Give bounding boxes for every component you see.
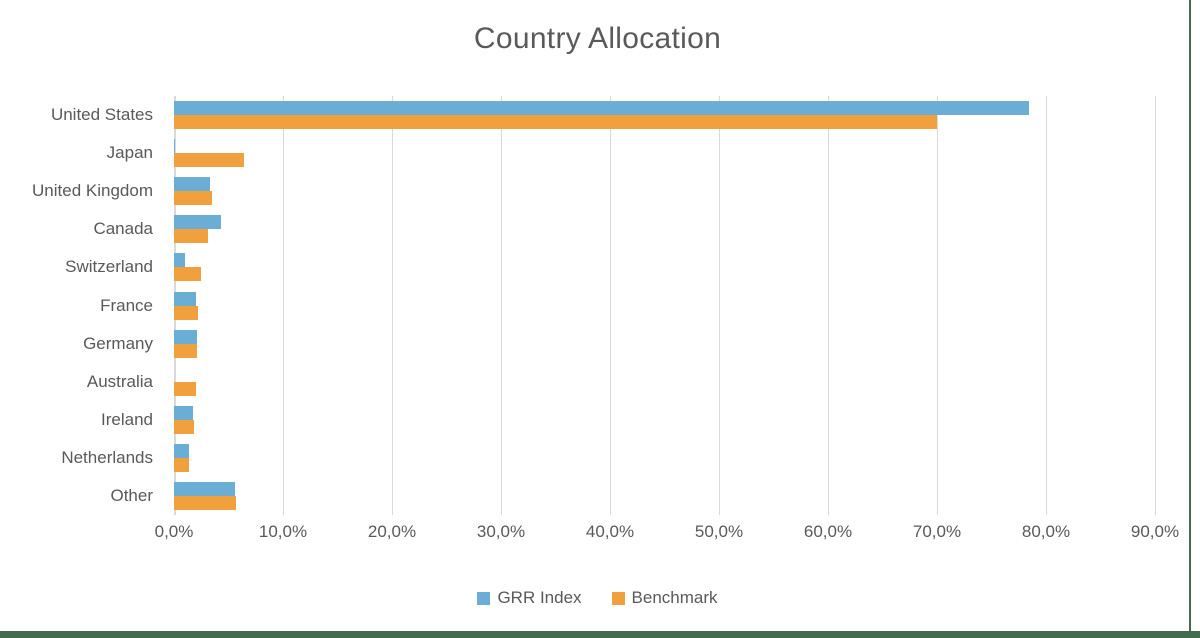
bar-group (174, 401, 1155, 439)
bar-group (174, 96, 1155, 134)
category-label: Switzerland (10, 248, 165, 286)
bar-group (174, 134, 1155, 172)
bar-grr-index[interactable] (174, 482, 235, 496)
bar-benchmark[interactable] (174, 382, 196, 396)
legend-item[interactable]: GRR Index (477, 588, 581, 608)
value-axis-tick-label: 40,0% (586, 522, 634, 542)
value-axis-tick-label: 60,0% (804, 522, 852, 542)
bar-benchmark[interactable] (174, 496, 236, 510)
value-axis-tick-label: 10,0% (259, 522, 307, 542)
bar-benchmark[interactable] (174, 420, 194, 434)
bar-grr-index[interactable] (174, 101, 1029, 115)
bar-benchmark[interactable] (174, 306, 198, 320)
plot-area (174, 96, 1155, 515)
value-axis-tick-label: 30,0% (477, 522, 525, 542)
value-axis-tick-label: 90,0% (1131, 522, 1179, 542)
category-label: Japan (10, 134, 165, 172)
bar-benchmark[interactable] (174, 229, 208, 243)
bar-grr-index[interactable] (174, 406, 193, 420)
bar-benchmark[interactable] (174, 191, 212, 205)
value-axis-tick-label: 80,0% (1022, 522, 1070, 542)
category-label: Ireland (10, 401, 165, 439)
value-axis-tick-label: 50,0% (695, 522, 743, 542)
category-label: Australia (10, 363, 165, 401)
gridline (1155, 96, 1156, 515)
legend-label: GRR Index (497, 588, 581, 608)
bar-grr-index[interactable] (174, 139, 175, 153)
bar-benchmark[interactable] (174, 458, 189, 472)
value-axis-tick-label: 70,0% (913, 522, 961, 542)
category-label: United Kingdom (10, 172, 165, 210)
legend-swatch-icon (477, 592, 490, 605)
bar-grr-index[interactable] (174, 215, 221, 229)
bar-group (174, 363, 1155, 401)
bar-group (174, 286, 1155, 324)
bar-benchmark[interactable] (174, 267, 201, 281)
bar-grr-index[interactable] (174, 330, 197, 344)
legend-swatch-icon (612, 592, 625, 605)
bar-groups (174, 96, 1155, 515)
category-axis: United StatesJapanUnited KingdomCanadaSw… (10, 96, 165, 515)
value-axis-tick-label: 0,0% (155, 522, 194, 542)
category-label: Netherlands (10, 439, 165, 477)
bar-benchmark[interactable] (174, 153, 244, 167)
value-axis-tick-label: 20,0% (368, 522, 416, 542)
bar-group (174, 210, 1155, 248)
category-label: Canada (10, 210, 165, 248)
bar-group (174, 248, 1155, 286)
bar-grr-index[interactable] (174, 292, 196, 306)
chart-plot-wrapper: United StatesJapanUnited KingdomCanadaSw… (0, 0, 1200, 638)
legend-label: Benchmark (632, 588, 718, 608)
category-label: Other (10, 477, 165, 515)
bar-grr-index[interactable] (174, 253, 185, 267)
bar-grr-index[interactable] (174, 177, 210, 191)
bar-benchmark[interactable] (174, 344, 197, 358)
bar-benchmark[interactable] (174, 115, 937, 129)
category-label: United States (10, 96, 165, 134)
category-label: Germany (10, 325, 165, 363)
bar-group (174, 172, 1155, 210)
chart-screenshot: Country Allocation United StatesJapanUni… (0, 0, 1200, 638)
chart-legend: GRR IndexBenchmark (0, 588, 1195, 608)
value-axis: 0,0%10,0%20,0%30,0%40,0%50,0%60,0%70,0%8… (174, 522, 1155, 552)
bar-group (174, 477, 1155, 515)
bar-grr-index[interactable] (174, 444, 189, 458)
bar-group (174, 439, 1155, 477)
legend-item[interactable]: Benchmark (612, 588, 718, 608)
bar-group (174, 325, 1155, 363)
category-label: France (10, 286, 165, 324)
